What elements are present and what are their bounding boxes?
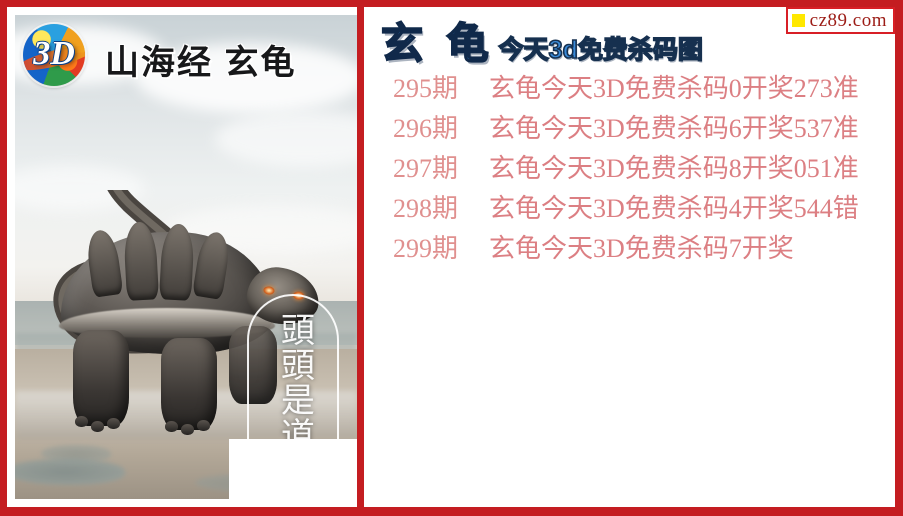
issue-number: 297期 — [393, 149, 489, 189]
calligraphy-watermark: 頭頭是道 — [247, 294, 339, 459]
rock-pool — [15, 459, 125, 485]
list-item[interactable]: 299期玄龟今天3D免费杀码7开奖 — [371, 229, 895, 269]
site-logo-badge[interactable]: cz89.com — [786, 7, 895, 34]
page-root: 頭頭是道 3D 山海经 玄龟 玄 龟 今天3d免费杀码图 295期玄 — [0, 0, 903, 516]
turtle-toe — [75, 416, 88, 427]
poster-image: 頭頭是道 3D 山海经 玄龟 — [15, 15, 357, 499]
issue-number: 295期 — [393, 69, 489, 109]
poster-masthead: 3D 山海经 玄龟 — [15, 15, 357, 93]
issue-text: 玄龟今天3D免费杀码0开奖273准 — [489, 74, 859, 103]
issue-number: 296期 — [393, 109, 489, 149]
turtle-eye — [263, 286, 275, 295]
turtle-toe — [181, 424, 194, 435]
issue-text: 玄龟今天3D免费杀码8开奖051准 — [489, 154, 859, 183]
list-item[interactable]: 296期玄龟今天3D免费杀码6开奖537准 — [371, 109, 895, 149]
poster-title: 山海经 玄龟 — [105, 35, 296, 84]
right-panel: 玄 龟 今天3d免费杀码图 295期玄龟今天3D免费杀码0开奖273准 296期… — [371, 7, 895, 507]
logo-3d-text: 3D — [23, 35, 85, 73]
issue-text: 玄龟今天3D免费杀码4开奖544错 — [489, 194, 859, 223]
turtle-toe — [197, 420, 210, 431]
left-panel: 頭頭是道 3D 山海经 玄龟 — [7, 7, 364, 507]
issue-text: 玄龟今天3D免费杀码7开奖 — [489, 234, 794, 263]
header-subtitle: 今天3d免费杀码图 — [499, 38, 703, 63]
turtle-toe — [107, 418, 120, 429]
list-item[interactable]: 297期玄龟今天3D免费杀码8开奖051准 — [371, 149, 895, 189]
list-item[interactable]: 295期玄龟今天3D免费杀码0开奖273准 — [371, 69, 895, 109]
header-main-title: 玄 龟 — [381, 23, 495, 65]
turtle-leg — [73, 330, 129, 426]
issue-text: 玄龟今天3D免费杀码6开奖537准 — [489, 114, 859, 143]
turtle-toe — [165, 421, 178, 432]
site-domain-label: cz89.com — [810, 11, 887, 30]
cloud-shape — [215, 111, 357, 167]
yellow-square-icon — [792, 14, 805, 27]
right-panel-header: 玄 龟 今天3d免费杀码图 — [381, 13, 703, 65]
issue-number: 298期 — [393, 189, 489, 229]
turtle-leg — [161, 338, 217, 430]
turtle-toe — [91, 421, 104, 432]
blank-overlay-box — [229, 439, 357, 499]
3d-lottery-logo-icon: 3D — [23, 24, 85, 86]
list-item[interactable]: 298期玄龟今天3D免费杀码4开奖544错 — [371, 189, 895, 229]
issue-number: 299期 — [393, 229, 489, 269]
prediction-list: 295期玄龟今天3D免费杀码0开奖273准 296期玄龟今天3D免费杀码6开奖5… — [371, 69, 895, 269]
